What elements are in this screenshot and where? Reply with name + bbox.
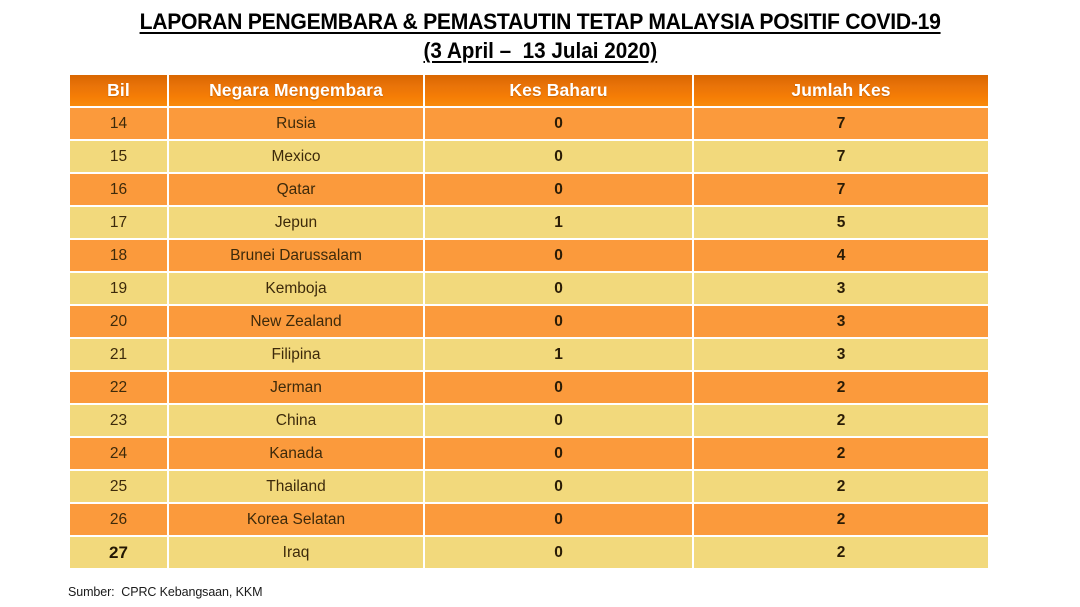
table-row: 26Korea Selatan02 — [70, 504, 988, 535]
cell-jumlah-kes: 7 — [694, 141, 988, 172]
table-row: 19Kemboja03 — [70, 273, 988, 304]
cell-jumlah-kes: 2 — [694, 471, 988, 502]
cell-kes-baharu: 1 — [425, 339, 692, 370]
cell-kes-baharu: 0 — [425, 306, 692, 337]
table-header-row: Bil Negara Mengembara Kes Baharu Jumlah … — [70, 75, 988, 106]
cell-bil: 18 — [70, 240, 167, 271]
cell-bil: 25 — [70, 471, 167, 502]
cell-jumlah-kes: 5 — [694, 207, 988, 238]
table-row: 25Thailand02 — [70, 471, 988, 502]
cell-negara: Jepun — [169, 207, 423, 238]
cell-bil: 26 — [70, 504, 167, 535]
cell-bil: 14 — [70, 108, 167, 139]
column-header-negara: Negara Mengembara — [169, 75, 423, 106]
cell-negara: Brunei Darussalam — [169, 240, 423, 271]
cell-jumlah-kes: 2 — [694, 405, 988, 436]
cell-kes-baharu: 0 — [425, 438, 692, 469]
table-row: 17Jepun15 — [70, 207, 988, 238]
title-line-1: LAPORAN PENGEMBARA & PEMASTAUTIN TETAP M… — [140, 7, 941, 36]
table-row: 18Brunei Darussalam04 — [70, 240, 988, 271]
cell-jumlah-kes: 4 — [694, 240, 988, 271]
cell-kes-baharu: 0 — [425, 240, 692, 271]
cell-bil: 21 — [70, 339, 167, 370]
source-note: Sumber: CPRC Kebangsaan, KKM — [68, 585, 262, 599]
table-row: 22Jerman02 — [70, 372, 988, 403]
table-row: 20New Zealand03 — [70, 306, 988, 337]
cell-kes-baharu: 0 — [425, 537, 692, 568]
table-row: 14Rusia07 — [70, 108, 988, 139]
column-header-bil: Bil — [70, 75, 167, 106]
cell-bil: 24 — [70, 438, 167, 469]
cell-bil: 20 — [70, 306, 167, 337]
cell-negara: Iraq — [169, 537, 423, 568]
cell-bil: 19 — [70, 273, 167, 304]
cell-negara: China — [169, 405, 423, 436]
cell-jumlah-kes: 2 — [694, 537, 988, 568]
cell-negara: Kanada — [169, 438, 423, 469]
cell-jumlah-kes: 3 — [694, 306, 988, 337]
cell-kes-baharu: 1 — [425, 207, 692, 238]
cell-negara: Korea Selatan — [169, 504, 423, 535]
cell-kes-baharu: 0 — [425, 273, 692, 304]
table-header: Bil Negara Mengembara Kes Baharu Jumlah … — [70, 75, 988, 106]
cell-negara: Kemboja — [169, 273, 423, 304]
cell-negara: Mexico — [169, 141, 423, 172]
cell-jumlah-kes: 7 — [694, 174, 988, 205]
cell-kes-baharu: 0 — [425, 108, 692, 139]
cell-kes-baharu: 0 — [425, 504, 692, 535]
cell-kes-baharu: 0 — [425, 141, 692, 172]
cell-kes-baharu: 0 — [425, 471, 692, 502]
cell-negara: Thailand — [169, 471, 423, 502]
page-title: LAPORAN PENGEMBARA & PEMASTAUTIN TETAP M… — [0, 0, 1080, 65]
table-row: 27Iraq02 — [70, 537, 988, 568]
cell-negara: Filipina — [169, 339, 423, 370]
cell-bil: 22 — [70, 372, 167, 403]
cell-jumlah-kes: 2 — [694, 504, 988, 535]
cell-jumlah-kes: 3 — [694, 339, 988, 370]
table-row: 15Mexico07 — [70, 141, 988, 172]
cell-jumlah-kes: 2 — [694, 438, 988, 469]
report-table-container: Bil Negara Mengembara Kes Baharu Jumlah … — [68, 73, 990, 570]
cell-bil: 16 — [70, 174, 167, 205]
table-row: 23China02 — [70, 405, 988, 436]
cell-negara: Jerman — [169, 372, 423, 403]
title-line-2: (3 April – 13 Julai 2020) — [423, 36, 657, 65]
cell-kes-baharu: 0 — [425, 372, 692, 403]
table-row: 24Kanada02 — [70, 438, 988, 469]
cell-negara: New Zealand — [169, 306, 423, 337]
cell-bil: 17 — [70, 207, 167, 238]
cell-jumlah-kes: 2 — [694, 372, 988, 403]
cell-bil: 23 — [70, 405, 167, 436]
cell-kes-baharu: 0 — [425, 405, 692, 436]
cell-jumlah-kes: 7 — [694, 108, 988, 139]
table-row: 16Qatar07 — [70, 174, 988, 205]
cell-negara: Qatar — [169, 174, 423, 205]
cell-bil: 15 — [70, 141, 167, 172]
table-body: 14Rusia0715Mexico0716Qatar0717Jepun1518B… — [70, 108, 988, 568]
table-row: 21Filipina13 — [70, 339, 988, 370]
cell-kes-baharu: 0 — [425, 174, 692, 205]
column-header-kes-baharu: Kes Baharu — [425, 75, 692, 106]
cell-negara: Rusia — [169, 108, 423, 139]
column-header-jumlah-kes: Jumlah Kes — [694, 75, 988, 106]
travellers-covid-table: Bil Negara Mengembara Kes Baharu Jumlah … — [68, 73, 990, 570]
cell-jumlah-kes: 3 — [694, 273, 988, 304]
cell-bil: 27 — [70, 537, 167, 568]
